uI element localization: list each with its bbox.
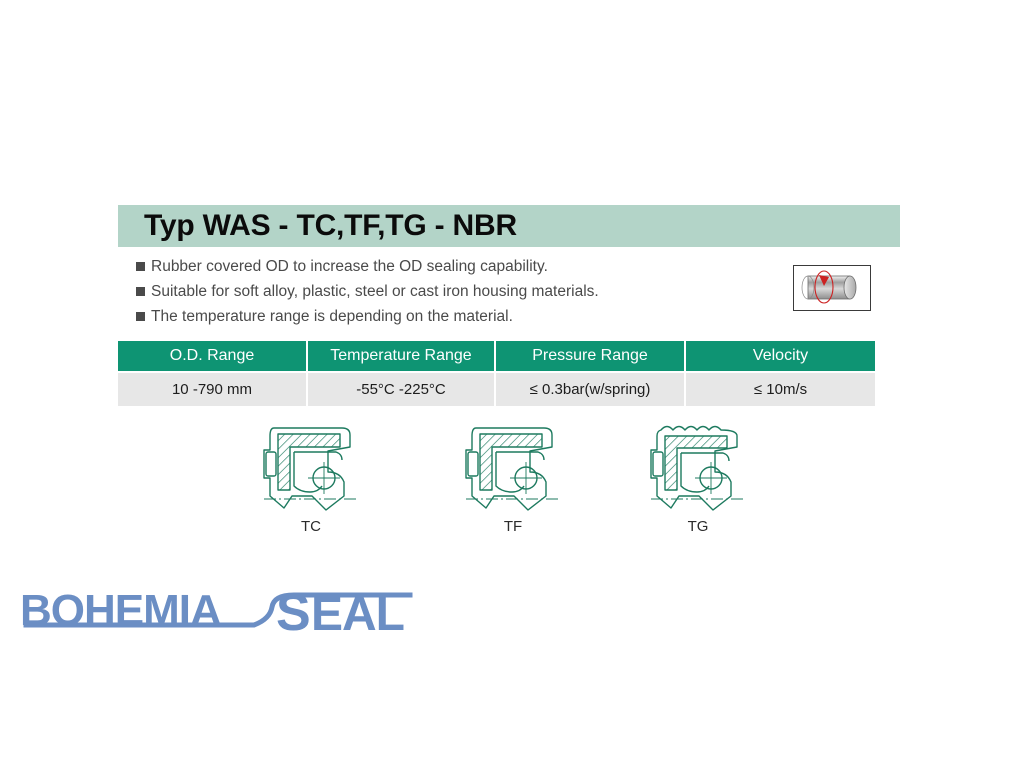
seal-diagram-tf: TF [438, 420, 588, 535]
seal-cross-section-tf [458, 420, 568, 516]
list-item: Suitable for soft alloy, plastic, steel … [136, 281, 756, 303]
table-header-row: O.D. Range Temperature Range Pressure Ra… [118, 341, 875, 371]
table-row: 10 -790 mm -55°C -225°C ≤ 0.3bar(w/sprin… [118, 373, 875, 406]
square-bullet-icon [136, 262, 145, 271]
seal-cross-section-tg [643, 420, 753, 516]
page-title: Typ WAS - TC,TF,TG - NBR [144, 209, 517, 243]
slide-canvas: Typ WAS - TC,TF,TG - NBR Rubber covered … [0, 0, 1024, 768]
seal-diagram-group: TC [118, 420, 878, 550]
square-bullet-icon [136, 287, 145, 296]
column-header-pressure-range: Pressure Range [496, 341, 684, 371]
list-item-label: Rubber covered OD to increase the OD sea… [151, 256, 548, 277]
list-item: Rubber covered OD to increase the OD sea… [136, 256, 756, 278]
spec-table: O.D. Range Temperature Range Pressure Ra… [118, 341, 875, 406]
cell-velocity: ≤ 10m/s [686, 373, 875, 406]
cell-pressure-range: ≤ 0.3bar(w/spring) [496, 373, 684, 406]
list-item: The temperature range is depending on th… [136, 306, 756, 328]
cell-temperature-range: -55°C -225°C [308, 373, 494, 406]
list-item-label: The temperature range is depending on th… [151, 306, 513, 327]
seal-label-tf: TF [438, 518, 588, 535]
feature-list: Rubber covered OD to increase the OD sea… [136, 256, 756, 331]
column-header-velocity: Velocity [686, 341, 875, 371]
column-header-od-range: O.D. Range [118, 341, 306, 371]
seal-cross-section-tc [256, 420, 366, 516]
seal-label-tc: TC [236, 518, 386, 535]
list-item-label: Suitable for soft alloy, plastic, steel … [151, 281, 599, 302]
logo-mark: BOHEMIA S EAL [18, 583, 418, 645]
seal-label-tg: TG [623, 518, 773, 535]
column-header-temperature-range: Temperature Range [308, 341, 494, 371]
logo-text-bohemia: BOHEMIA [20, 586, 221, 635]
title-banner: Typ WAS - TC,TF,TG - NBR [118, 205, 900, 247]
rotating-shaft-icon [793, 265, 871, 311]
cell-od-range: 10 -790 mm [118, 373, 306, 406]
bohemia-seal-logo: BOHEMIA S EAL [18, 583, 418, 645]
seal-diagram-tg: TG [623, 420, 773, 535]
seal-diagram-tc: TC [236, 420, 386, 535]
square-bullet-icon [136, 312, 145, 321]
